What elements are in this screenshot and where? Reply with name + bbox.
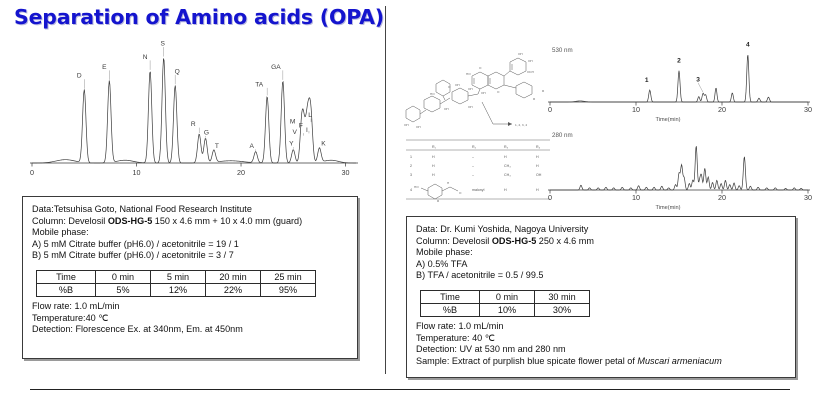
x-axis-tick-label: 10 — [133, 168, 141, 177]
data-source-line: Data: Dr. Kumi Yoshida, Nagoya Universit… — [416, 224, 786, 236]
structure-annotation-label: 1, 2, 3, 4 — [515, 123, 527, 127]
table-row: Time0 min5 min20 min25 min — [37, 270, 316, 283]
table-cell: 22% — [206, 283, 261, 296]
peak-label: Y — [289, 141, 294, 148]
table-cell: 5% — [96, 283, 151, 296]
x-axis-tick-label: 10 — [632, 193, 640, 202]
svg-text:OH: OH — [444, 107, 449, 111]
table-cell: – — [472, 155, 474, 159]
sample-prefix: Sample: Extract of purplish blue spicate… — [416, 356, 637, 366]
table-row: %B10%30% — [421, 303, 590, 316]
peak-label: I — [306, 127, 308, 134]
svg-text:R: R — [533, 97, 536, 101]
svg-text:OCH: OCH — [527, 70, 534, 74]
rgroup-table: R₁R₂R₃R₄1H–HH2H–CH₃H3H–CH₃OH4malonylHH H… — [404, 136, 552, 202]
svg-text:OH: OH — [518, 52, 523, 56]
svg-text:O: O — [497, 90, 500, 94]
x-axis-tick-label: 20 — [237, 168, 245, 177]
svg-text:HO: HO — [414, 185, 419, 189]
peak-label: G — [204, 130, 209, 137]
svg-text:OH: OH — [481, 91, 486, 95]
table-cell: – — [472, 173, 474, 177]
chromatogram-530nm: 530 nm 0102030 1234 Time(min) — [546, 36, 814, 124]
table-header-cell: R₃ — [504, 145, 509, 149]
svg-text:HO: HO — [466, 72, 471, 76]
table-header-cell: Time — [37, 270, 96, 283]
svg-text:O: O — [479, 66, 482, 70]
svg-text:OH: OH — [468, 105, 473, 109]
column-line: Column: Develosil ODS-HG-5 150 x 4.6 mm … — [32, 216, 348, 228]
flow-rate-line: Flow rate: 1.0 mL/min — [32, 301, 348, 313]
x-axis-tick-label: 30 — [804, 105, 812, 114]
table-header-cell: R₂ — [472, 145, 477, 149]
table-cell: %B — [37, 283, 96, 296]
column-prefix: Column: Develosil — [416, 236, 492, 246]
table-cell: %B — [421, 303, 480, 316]
peak-label: T — [215, 143, 219, 150]
temperature-line: Temperature:40 ℃ — [32, 313, 348, 325]
table-cell: H — [504, 155, 507, 159]
x-axis-tick-label: 10 — [632, 105, 640, 114]
panel-amino-acids: Separation of Amino acids (OPA) 0102030 … — [0, 0, 386, 402]
data-source-line: Data:Tetsuhisa Goto, National Food Resea… — [32, 204, 348, 216]
svg-text:OH: OH — [528, 59, 533, 63]
slide-page: Separation of Amino acids (OPA) 0102030 … — [0, 0, 818, 402]
x-axis-tick-label: 30 — [342, 168, 350, 177]
svg-text:HO: HO — [430, 92, 435, 96]
trace-line — [550, 146, 808, 190]
page-title-left: Separation of Amino acids (OPA) — [14, 5, 384, 29]
peak-label: Q — [175, 68, 180, 75]
chromatogram-280nm: 280 nm 0102030 Time(min) — [546, 122, 814, 212]
detection-line: Detection: Florescence Ex. at 340nm, Em.… — [32, 324, 348, 336]
table-cell: 10% — [480, 303, 535, 316]
svg-text:OH: OH — [404, 123, 409, 127]
peak-label: TA — [255, 81, 264, 88]
table-header-cell: 25 min — [261, 270, 316, 283]
table-cell: OH — [536, 173, 542, 177]
table-header-cell: 0 min — [96, 270, 151, 283]
table-header-cell: 0 min — [480, 290, 535, 303]
peak-label: D — [77, 73, 82, 80]
wavelength-label-280: 280 nm — [552, 132, 573, 139]
peak-label: M — [290, 118, 296, 125]
method-box-anthocyanins: Data: Dr. Kumi Yoshida, Nagoya Universit… — [406, 216, 796, 378]
column-model: ODS-HG-5 — [492, 236, 536, 246]
mobile-phase-b: B) TFA / acetonitrile = 0.5 / 99.5 — [416, 270, 786, 282]
table-cell: – — [472, 164, 474, 168]
table-row-index: 2 — [410, 164, 412, 168]
peak-label: 2 — [677, 58, 681, 65]
peak-label: GA — [271, 64, 281, 71]
table-header-cell: Time — [421, 290, 480, 303]
gradient-table-anthocyanins: Time0 min30 min%B10%30% — [420, 290, 590, 317]
peak-label: 3 — [696, 76, 700, 83]
mobile-phase-heading: Mobile phase: — [32, 227, 348, 239]
table-header-cell: 30 min — [535, 290, 590, 303]
table-header-cell: R₁ — [432, 145, 437, 149]
table-cell: H — [432, 173, 435, 177]
svg-text:OH: OH — [468, 87, 473, 91]
table-cell: H — [432, 164, 435, 168]
method-box-amino-acids: Data:Tetsuhisa Goto, National Food Resea… — [22, 196, 358, 359]
mobile-phase-a: A) 0.5% TFA — [416, 259, 786, 271]
table-cell: H — [504, 188, 507, 192]
detection-line: Detection: UV at 530 nm and 280 nm — [416, 344, 786, 356]
table-cell: CH₃ — [504, 164, 511, 168]
svg-text:R: R — [542, 89, 545, 93]
mobile-phase-heading: Mobile phase: — [416, 247, 786, 259]
wavelength-label-530: 530 nm — [552, 47, 573, 54]
peak-label: 4 — [746, 41, 750, 48]
x-axis-tick-label: 30 — [804, 193, 812, 202]
x-axis-tick-label: 20 — [718, 193, 726, 202]
svg-text:OH: OH — [416, 125, 421, 129]
peak-label: N — [143, 54, 148, 61]
mobile-phase-b: B) 5 mM Citrate buffer (pH6.0) / acetoni… — [32, 250, 348, 262]
temperature-line: Temperature: 40 ℃ — [416, 333, 786, 345]
table-row: %B5%12%22%95% — [37, 283, 316, 296]
table-cell: malonyl — [472, 188, 485, 192]
svg-text:O: O — [448, 85, 451, 89]
mobile-phase-a: A) 5 mM Citrate buffer (pH6.0) / acetoni… — [32, 239, 348, 251]
peak-label: K — [321, 141, 326, 148]
table-row-index: 4 — [410, 188, 412, 192]
peak-label: A — [249, 143, 254, 150]
x-axis-tick-label: 0 — [548, 105, 552, 114]
x-axis-tick-label: 20 — [718, 105, 726, 114]
table-cell: CH₃ — [504, 173, 511, 177]
svg-text:H: H — [447, 181, 449, 185]
chromatogram-amino-acids: 0102030 DENSQRGTATAGAYMVFILK — [24, 34, 364, 186]
gradient-table-amino-acids: Time0 min5 min20 min25 min%B5%12%22%95% — [36, 270, 316, 297]
peak-label: E — [102, 64, 107, 71]
peak-label: F — [299, 123, 303, 130]
column-line: Column: Develosil ODS-HG-5 250 x 4.6 mm — [416, 236, 786, 248]
table-cell: 95% — [261, 283, 316, 296]
table-cell: H — [536, 164, 539, 168]
column-suffix: 250 x 4.6 mm — [536, 236, 594, 246]
table-cell: H — [432, 155, 435, 159]
table-cell: 30% — [535, 303, 590, 316]
table-row-index: 1 — [410, 155, 412, 159]
column-prefix: Column: Develosil — [32, 216, 108, 226]
peak-label: R — [191, 121, 196, 128]
sample-species: Muscari armeniacum — [637, 356, 721, 366]
peak-label: S — [160, 41, 165, 48]
sample-line: Sample: Extract of purplish blue spicate… — [416, 356, 786, 368]
x-axis-tick-label: 0 — [548, 193, 552, 202]
peak-label: L — [308, 112, 312, 119]
svg-text:OH: OH — [455, 83, 460, 87]
peak-label: V — [293, 129, 298, 136]
column-model: ODS-HG-5 — [108, 216, 152, 226]
table-row: Time0 min30 min — [421, 290, 590, 303]
table-header-cell: 5 min — [151, 270, 206, 283]
x-axis-tick-label: 0 — [30, 168, 34, 177]
svg-text:O: O — [459, 191, 462, 195]
table-cell: H — [536, 155, 539, 159]
table-cell: H — [536, 188, 539, 192]
anthocyanin-structure-diagram: HOO OHOH O OHOH OCH R OOH HOOH OHOH OH R… — [400, 40, 550, 145]
table-header-cell: R₄ — [536, 145, 541, 149]
flow-rate-line: Flow rate: 1.0 mL/min — [416, 321, 786, 333]
column-suffix: 150 x 4.6 mm + 10 x 4.0 mm (guard) — [152, 216, 302, 226]
table-header-cell: 20 min — [206, 270, 261, 283]
peak-label: 1 — [645, 77, 649, 84]
x-axis-label-280: Time(min) — [656, 205, 681, 211]
table-row-index: 3 — [410, 173, 412, 177]
table-cell: 12% — [151, 283, 206, 296]
